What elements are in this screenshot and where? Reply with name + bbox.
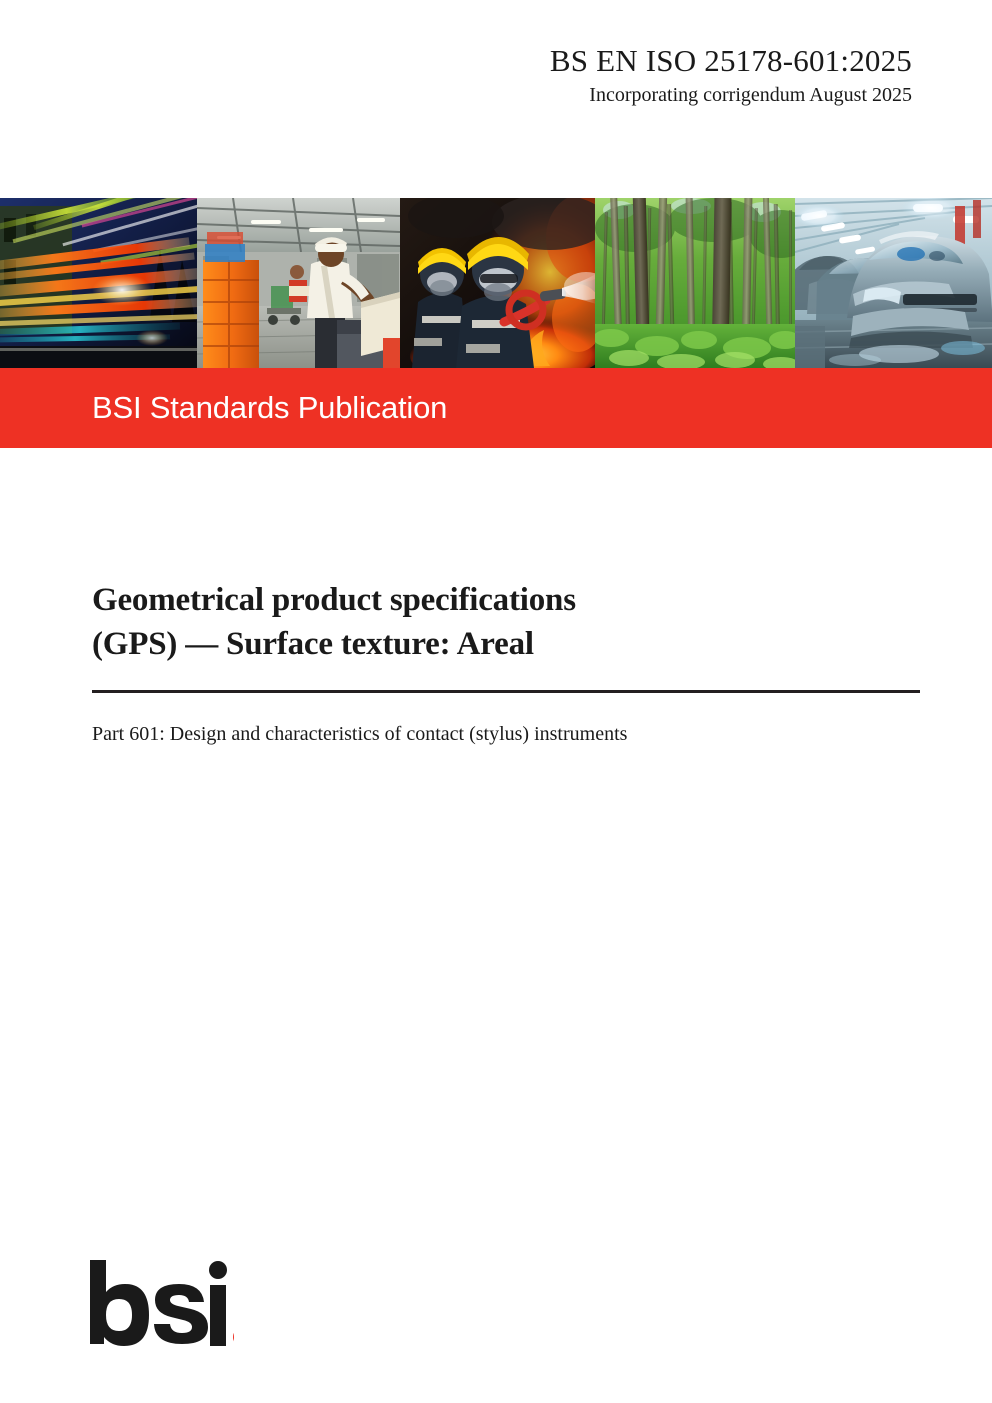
standard-number: BS EN ISO 25178-601:2025 bbox=[550, 42, 912, 80]
document-title-line-1: Geometrical product specifications bbox=[92, 578, 920, 622]
bsi-logo-red-dot bbox=[233, 1328, 234, 1346]
car-assembly-line-photo bbox=[795, 198, 992, 368]
document-cover-page: BS EN ISO 25178-601:2025 Incorporating c… bbox=[0, 0, 992, 1403]
title-block: Geometrical product specifications (GPS)… bbox=[92, 578, 920, 748]
warehouse-worker-photo bbox=[197, 198, 400, 368]
traffic-light-trails-photo bbox=[0, 198, 197, 368]
document-part-subtitle: Part 601: Design and characteristics of … bbox=[92, 720, 920, 748]
document-header: BS EN ISO 25178-601:2025 Incorporating c… bbox=[550, 42, 912, 108]
firefighters-photo bbox=[400, 198, 595, 368]
document-title-line-2: (GPS) — Surface texture: Areal bbox=[92, 622, 920, 666]
bsi-wordmark-glyphs bbox=[90, 1260, 227, 1346]
forest-photo bbox=[595, 198, 795, 368]
corrigendum-note: Incorporating corrigendum August 2025 bbox=[550, 82, 912, 108]
bsi-standards-publication-bar: BSI Standards Publication bbox=[0, 368, 992, 448]
title-divider-rule bbox=[92, 690, 920, 693]
cover-banner-images bbox=[0, 198, 992, 368]
bsi-logo bbox=[84, 1258, 234, 1350]
publication-strapline: BSI Standards Publication bbox=[92, 390, 447, 426]
